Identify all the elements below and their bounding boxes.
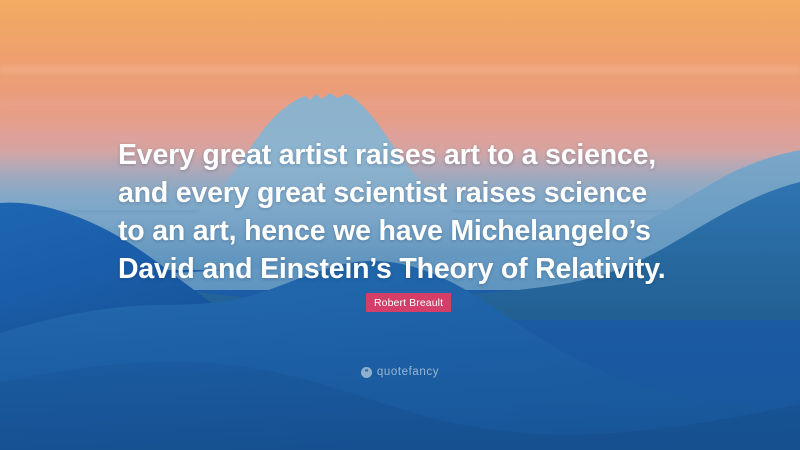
quote-card: Every great artist raises art to a scien…: [0, 0, 800, 450]
quote-mark-glyph: ❝: [365, 369, 368, 376]
watermark[interactable]: ❝ quotefancy: [0, 366, 800, 378]
content-overlay: Every great artist raises art to a scien…: [0, 0, 800, 450]
quote-mark-circle-icon: ❝: [361, 367, 372, 378]
quote-text: Every great artist raises art to a scien…: [118, 136, 693, 288]
watermark-brand: quotefancy: [377, 366, 439, 378]
author-name: Robert Breault: [374, 297, 443, 309]
author-badge[interactable]: Robert Breault: [366, 293, 451, 312]
